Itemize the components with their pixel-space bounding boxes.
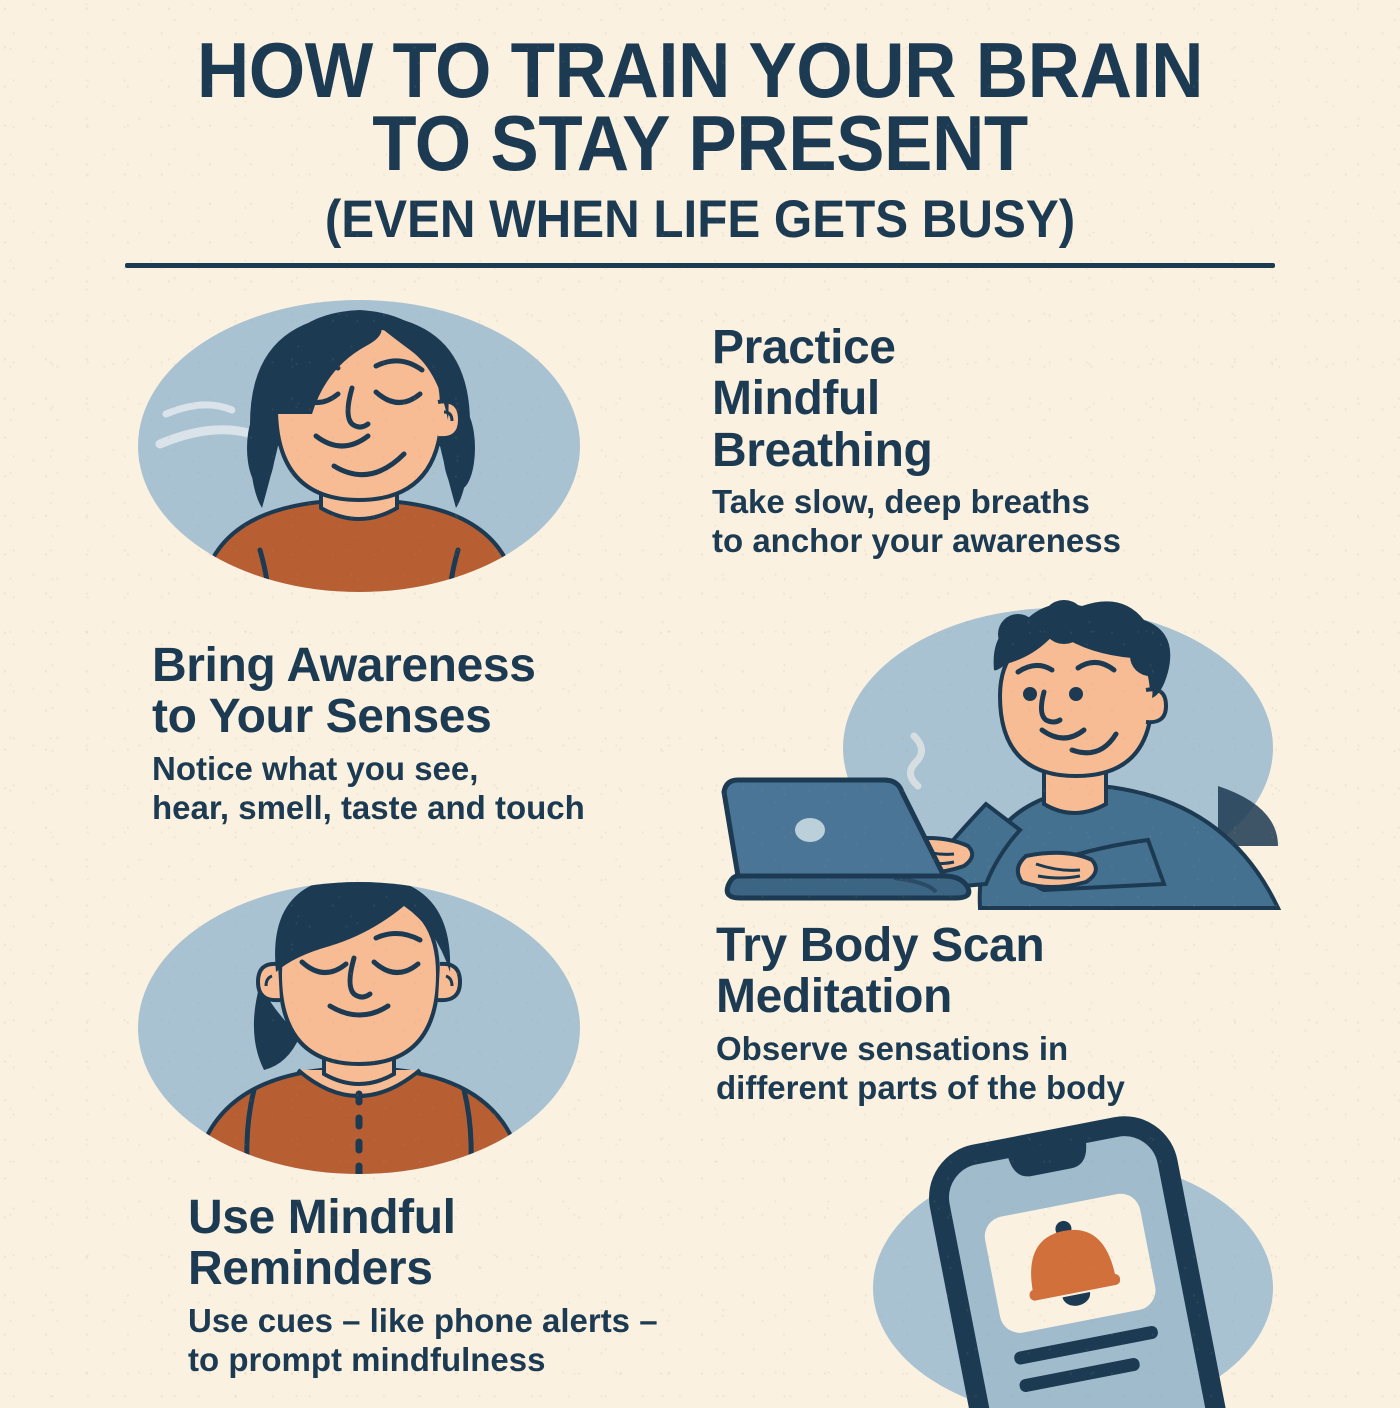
page-subtitle: (EVEN WHEN LIFE GETS BUSY) xyxy=(49,193,1351,246)
tip-heading: Try Body Scan Meditation xyxy=(716,920,1316,1023)
header: HOW TO TRAIN YOUR BRAIN TO STAY PRESENT … xyxy=(0,34,1400,246)
tip-heading: Use Mindful Reminders xyxy=(188,1192,828,1295)
woman-breathing-icon xyxy=(138,296,580,596)
tip-block-awareness-senses: Bring Awareness to Your Senses Notice wh… xyxy=(152,640,772,828)
tip-block-body-scan-meditation: Try Body Scan Meditation Observe sensati… xyxy=(716,920,1316,1108)
tip-heading: Bring Awareness to Your Senses xyxy=(152,640,772,743)
page-title-line-2: TO STAY PRESENT xyxy=(49,107,1351,180)
woman-meditating-icon xyxy=(138,878,580,1178)
tip-block-mindful-reminders: Use Mindful Reminders Use cues – like ph… xyxy=(188,1192,828,1380)
tip-description: Observe sensations in different parts of… xyxy=(716,1030,1316,1108)
tip-description: Use cues – like phone alerts – to prompt… xyxy=(188,1302,828,1380)
man-at-laptop-icon xyxy=(718,608,1278,908)
header-divider xyxy=(125,263,1275,268)
tip-block-mindful-breathing: Practice Mindful Breathing Take slow, de… xyxy=(712,322,1312,561)
tip-description: Notice what you see, hear, smell, taste … xyxy=(152,750,772,828)
tip-description: Take slow, deep breaths to anchor your a… xyxy=(712,483,1312,561)
tip-heading: Practice Mindful Breathing xyxy=(712,322,1312,476)
infographic-page: HOW TO TRAIN YOUR BRAIN TO STAY PRESENT … xyxy=(0,0,1400,1400)
phone-notification-icon xyxy=(838,1128,1308,1408)
page-title-line-1: HOW TO TRAIN YOUR BRAIN xyxy=(49,34,1351,107)
